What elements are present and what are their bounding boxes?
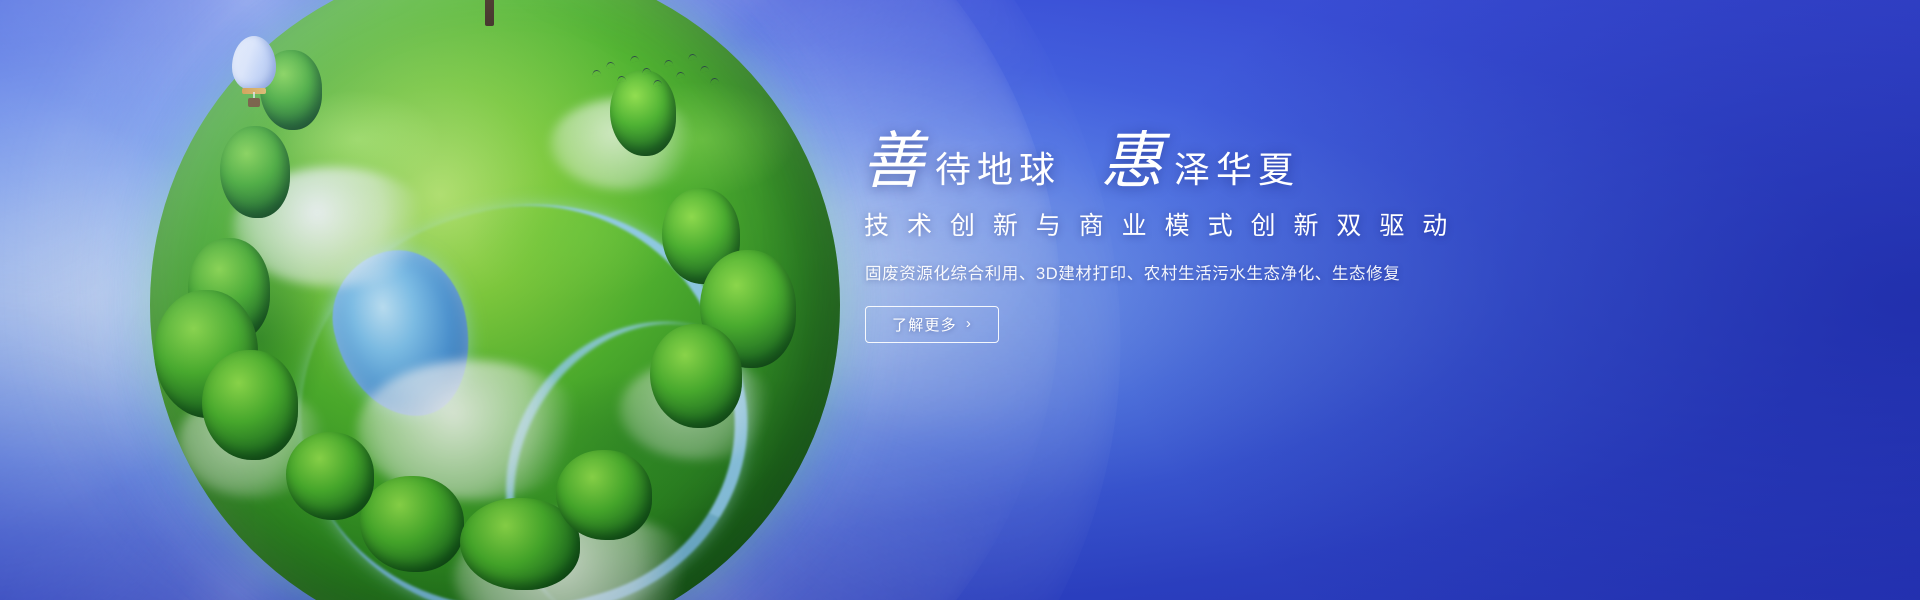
banner-description: 固废资源化综合利用、3D建材打印、农村生活污水生态净化、生态修复 — [865, 260, 1562, 284]
banner-subtitle: 技 术 创 新 与 商 业 模 式 创 新 双 驱 动 — [864, 206, 1562, 242]
banner-content: 善 待地球 惠 泽华夏 技 术 创 新 与 商 业 模 式 创 新 双 驱 动 … — [862, 130, 1562, 343]
chevron-right-icon: › — [966, 316, 972, 331]
hero-banner: 善 待地球 惠 泽华夏 技 术 创 新 与 商 业 模 式 创 新 双 驱 动 … — [0, 0, 1920, 600]
learn-more-label: 了解更多 — [892, 314, 957, 335]
page-title: 善 待地球 惠 泽华夏 — [862, 130, 1562, 192]
headline-part2-large: 惠 — [1101, 130, 1164, 192]
learn-more-button[interactable]: 了解更多 › — [865, 306, 999, 343]
headline-part1-large: 善 — [862, 130, 925, 192]
headline-part2-small: 泽华夏 — [1174, 153, 1300, 189]
headline-part1-small: 待地球 — [935, 153, 1061, 189]
